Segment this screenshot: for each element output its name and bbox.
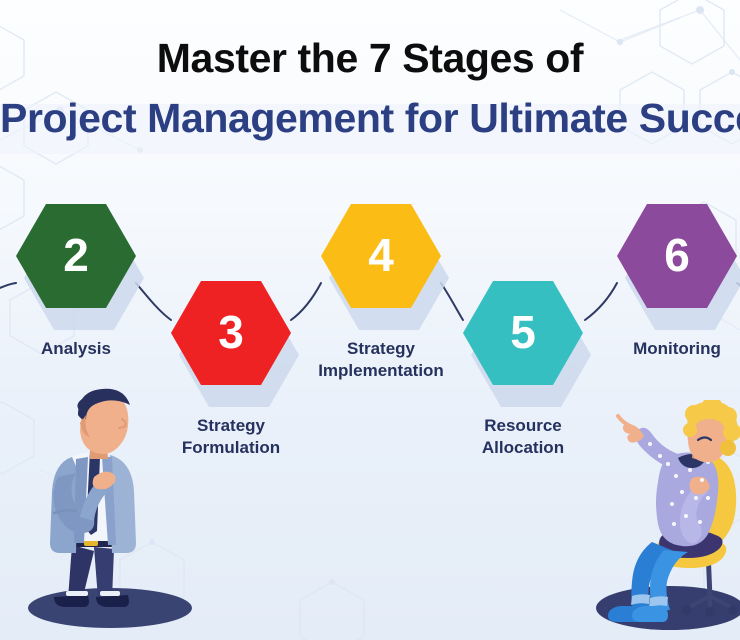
- stage-5[interactable]: 5Resource Allocation: [463, 281, 583, 385]
- stage-label: Analysis: [0, 338, 191, 360]
- stage-label: Strategy Implementation: [266, 338, 496, 383]
- standing-businessman-illustration: [10, 385, 210, 640]
- stage-4[interactable]: 4Strategy Implementation: [321, 204, 441, 308]
- title-line-2: Project Management for Ultimate Success: [0, 96, 740, 140]
- infographic-title: Master the 7 Stages of Project Managemen…: [0, 36, 740, 141]
- stage-hexagon-wrapper: 5: [463, 281, 583, 385]
- stage-number: 6: [664, 232, 690, 278]
- stage-hexagon-wrapper: 6: [617, 204, 737, 308]
- stage-label: Monitoring: [562, 338, 740, 360]
- stage-number: 2: [63, 232, 89, 278]
- seated-businesswoman-illustration: [590, 400, 740, 640]
- stage-hexagon-wrapper: 4: [321, 204, 441, 308]
- stage-6[interactable]: 6Monitoring: [617, 204, 737, 308]
- infographic-canvas: Master the 7 Stages of Project Managemen…: [0, 0, 740, 640]
- title-line-1: Master the 7 Stages of: [0, 36, 740, 80]
- stage-number: 4: [368, 232, 394, 278]
- stage-hexagon-wrapper: 2: [16, 204, 136, 308]
- stage-number: 5: [510, 309, 536, 355]
- stage-number: 3: [218, 309, 244, 355]
- stage-2[interactable]: 2Analysis: [16, 204, 136, 308]
